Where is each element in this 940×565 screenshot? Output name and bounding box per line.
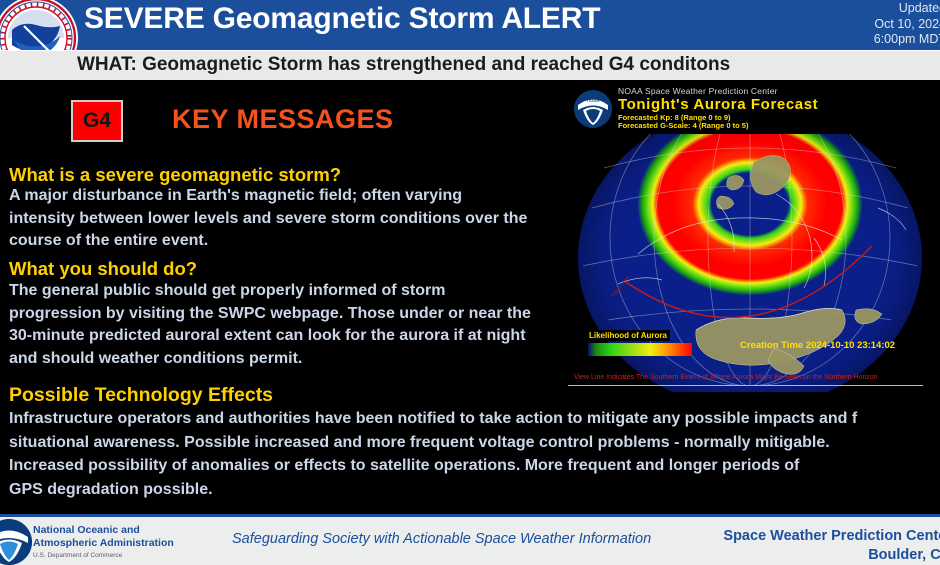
noaa-agency-name: National Oceanic and Atmospheric Adminis… (33, 524, 174, 550)
section-body-what-is-storm: A major disturbance in Earth's magnetic … (9, 185, 529, 253)
main-content: G4 KEY MESSAGES What is a severe geomagn… (0, 80, 940, 514)
aurora-viewline-note: View Line Indicates The Southern Extent … (574, 374, 878, 381)
swpc-location: Boulder, CO (723, 546, 940, 565)
updated-date: Oct 10, 2024 (874, 17, 940, 33)
aurora-agency-line: NOAA Space Weather Prediction Center (618, 86, 778, 96)
aurora-creation-time: Creation Time 2024-10-10 23:14:02 (740, 340, 895, 351)
section-body-technology-effects: Infrastructure operators and authorities… (9, 407, 940, 501)
aurora-gscale-line: Forecasted G-Scale: 4 (Range 0 to 5) (618, 121, 748, 130)
what-summary-text: WHAT: Geomagnetic Storm has strengthened… (77, 54, 730, 76)
section-heading-what-is-storm: What is a severe geomagnetic storm? (9, 164, 341, 186)
noaa-footer-logo (0, 519, 32, 565)
section-body-what-you-should-do: The general public should get properly i… (9, 280, 534, 370)
updated-timestamp: Updated Oct 10, 2024 6:00pm MDT (874, 1, 940, 48)
page-title: SEVERE Geomagnetic Storm ALERT (84, 2, 600, 36)
what-summary-bar: WHAT: Geomagnetic Storm has strengthened… (0, 50, 940, 81)
aurora-legend-label: Likelihood of Aurora (586, 330, 670, 341)
alert-header-bar: SEVERE Geomagnetic Storm ALERT Updated O… (0, 0, 940, 50)
swpc-address: Space Weather Prediction Center Boulder,… (723, 527, 940, 565)
updated-label: Updated (874, 1, 940, 17)
page-title-rest: Geomagnetic Storm ALERT (205, 2, 601, 35)
page-title-severe: SEVERE (84, 2, 205, 35)
aurora-legend-colorbar (588, 343, 692, 356)
aurora-divider (568, 385, 923, 386)
status-badge-g4: G4 (71, 100, 123, 142)
department-of-commerce-line: U.S. Department of Commerce (33, 552, 122, 559)
svg-text:noaa: noaa (587, 98, 599, 104)
section-heading-what-you-should-do: What you should do? (9, 258, 197, 280)
key-messages-heading: KEY MESSAGES (172, 104, 394, 135)
national-weather-service-logo (0, 0, 78, 50)
footer-tagline: Safeguarding Society with Actionable Spa… (232, 531, 651, 547)
aurora-forecast-title: Tonight's Aurora Forecast (618, 96, 818, 113)
updated-time: 6:00pm MDT (874, 32, 940, 48)
noaa-logo: noaa (574, 90, 612, 128)
page-footer: National Oceanic and Atmospheric Adminis… (0, 514, 940, 565)
aurora-forecast-image: noaa NOAA Space Weather Prediction Cente… (560, 82, 940, 392)
section-heading-technology-effects: Possible Technology Effects (9, 384, 273, 407)
swpc-center-name: Space Weather Prediction Center (723, 527, 940, 546)
